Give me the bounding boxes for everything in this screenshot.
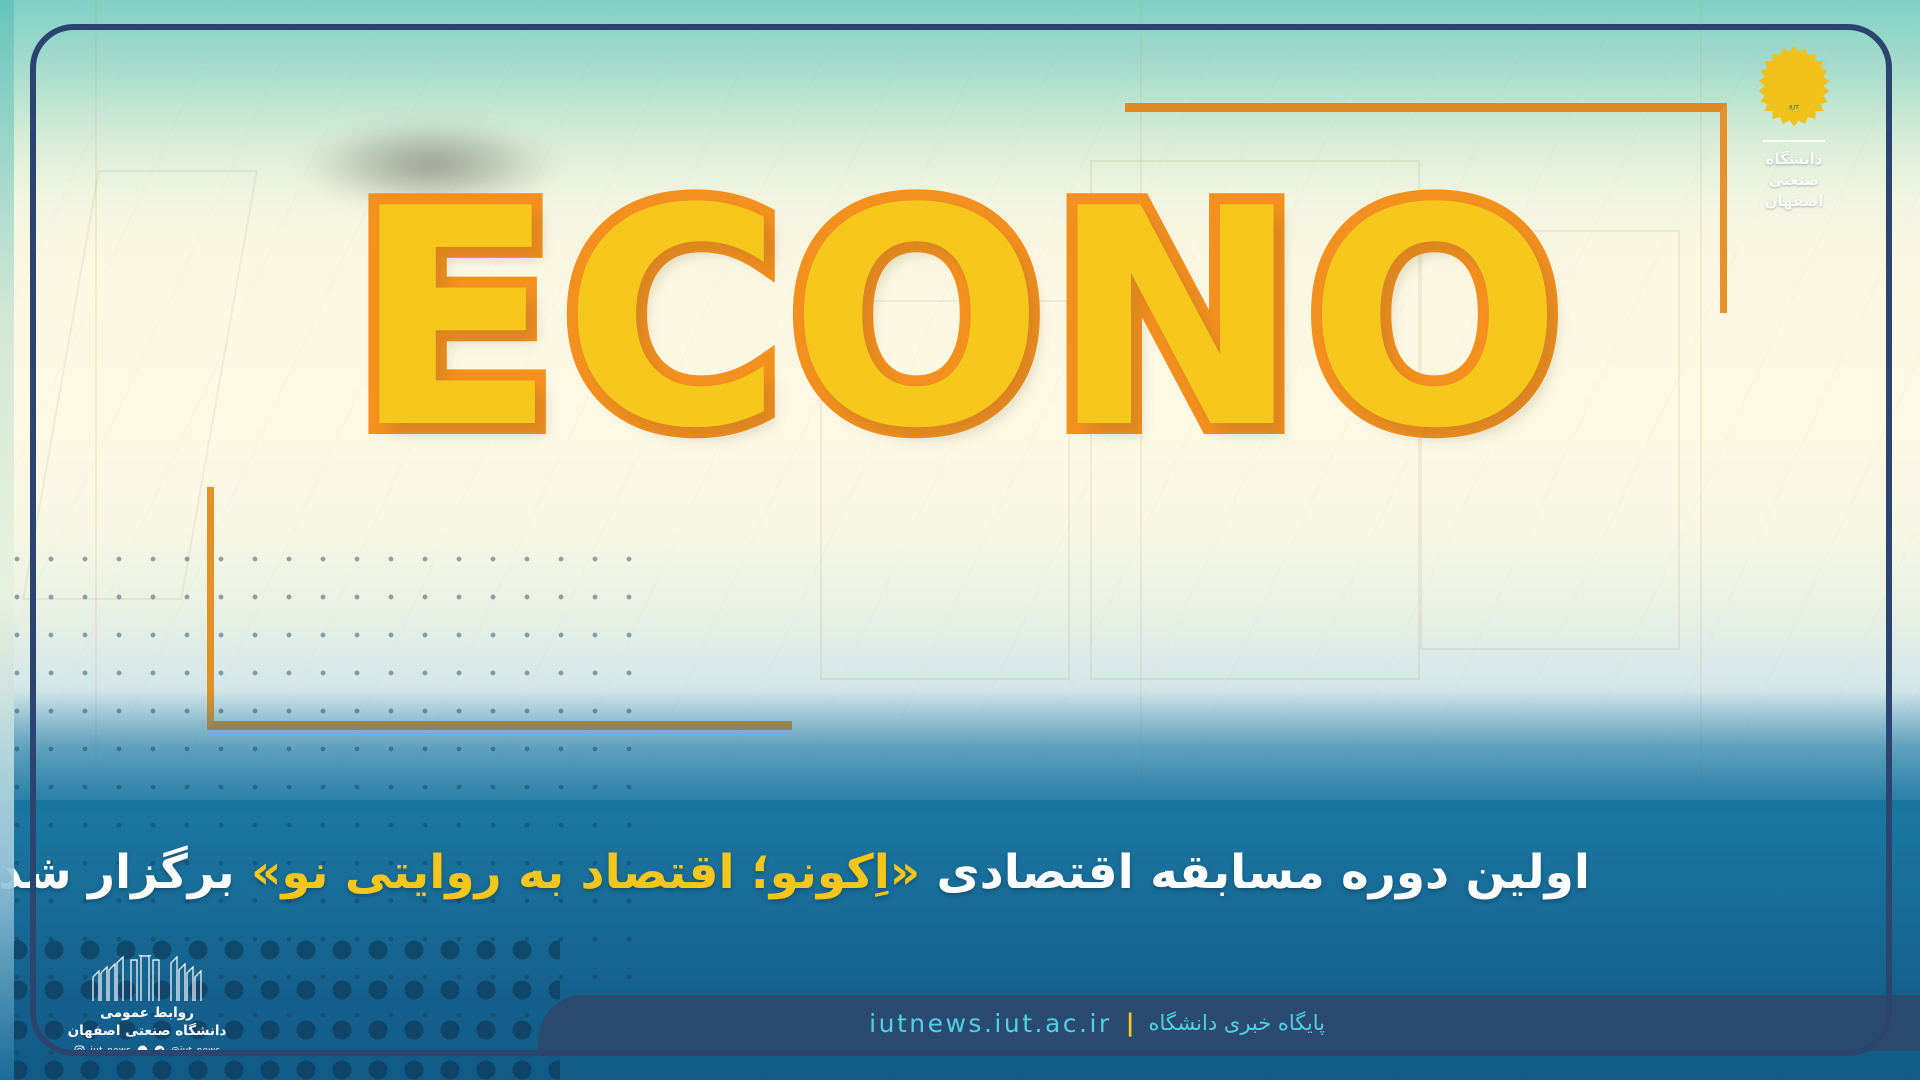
instagram-icon[interactable] [74,1045,85,1056]
public-relations-logo: روابط عمومی دانشگاه صنعتی اصفهان iut_new… [52,955,242,1067]
iut-name-line3: اصفهان [1765,191,1824,212]
news-site-label: پایگاه خبری دانشگاه [1148,1011,1325,1035]
iut-logo-name: دانشگاه صنعتی اصفهان [1765,149,1824,212]
headline-part-after: برگزار شد [0,845,251,900]
svg-text:IUT: IUT [1789,104,1799,111]
pr-logo-line2: دانشگاه صنعتی اصفهان [68,1023,227,1039]
iut-skyline-mark-icon [87,955,207,1001]
telegram-handle: @iut_news [171,1046,220,1056]
iut-name-line1: دانشگاه [1765,149,1824,170]
page-title: اولین دوره مسابقه اقتصادی «اِکونو؛ اقتصا… [330,838,1590,908]
econo-wordmark: ECONO [0,175,1920,465]
iut-gear-emblem-icon: IUT [1751,44,1837,130]
pr-social-row: iut_news @iut_news [74,1045,221,1056]
telegram-icon[interactable] [154,1045,165,1056]
news-site-url[interactable]: iutnews.iut.ac.ir [869,1009,1112,1038]
headline-part-before: اولین دوره مسابقه اقتصادی [920,845,1590,900]
news-banner-poster: ECONO اولین دوره مسابقه اقتصادی «اِکونو؛… [0,0,1920,1080]
iut-logo-divider [1763,140,1825,142]
footer-strip: پایگاه خبری دانشگاه | iutnews.iut.ac.ir [538,995,1920,1051]
footer-separator: | [1126,1009,1135,1037]
instagram-handle: iut_news [91,1046,132,1056]
iut-university-logo: IUT دانشگاه صنعتی اصفهان [1730,44,1858,212]
twitter-icon[interactable] [137,1045,148,1056]
iut-name-line2: صنعتی [1765,170,1824,191]
pr-logo-line1: روابط عمومی [100,1005,194,1021]
headline-part-accent: «اِکونو؛ اقتصاد به روایتی نو» [251,845,920,900]
